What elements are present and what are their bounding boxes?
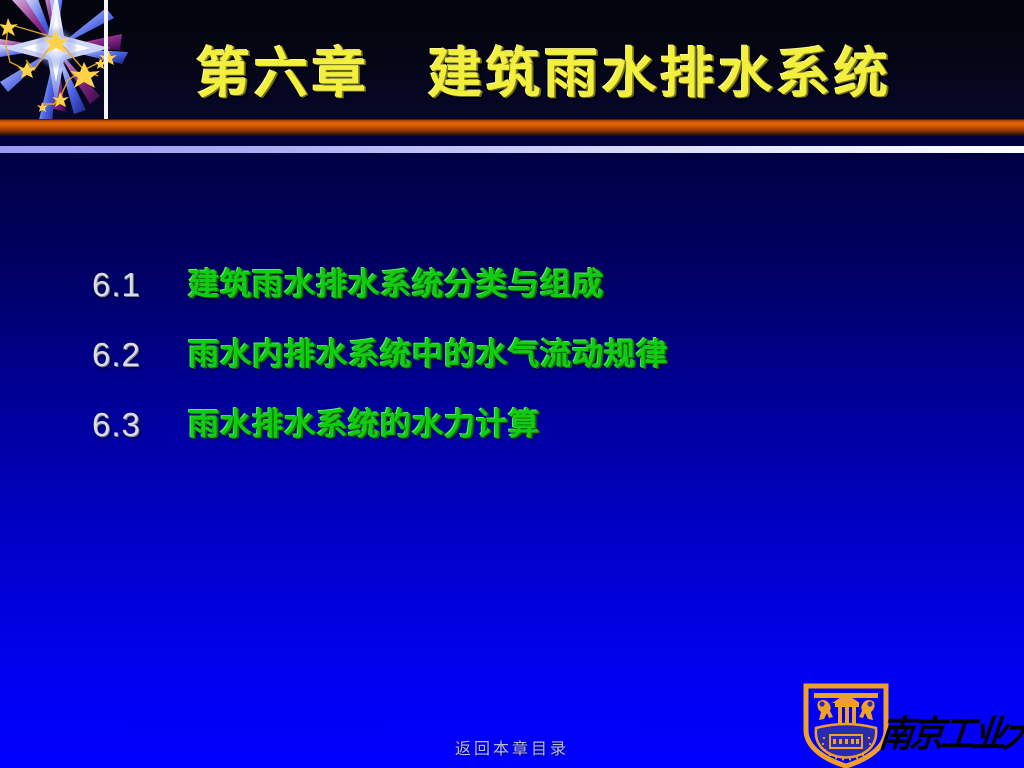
list-item-number: 6.2	[92, 336, 141, 374]
list-item-label: 雨水内排水系统中的水气流动规律	[188, 336, 668, 374]
university-logo: 南京工业大学	[800, 682, 1024, 768]
list-item[interactable]: 6.1 建筑雨水排水系统分类与组成	[0, 250, 1024, 320]
orange-divider-bar	[0, 119, 1024, 136]
list-item-number: 6.3	[92, 406, 141, 444]
list-item-label: 雨水排水系统的水力计算	[188, 406, 540, 444]
page-title: 第六章 建筑雨水排水系统	[196, 42, 892, 106]
list-item[interactable]: 6.2 雨水内排水系统中的水气流动规律	[0, 320, 1024, 390]
light-divider-bar	[0, 146, 1024, 153]
university-name-calligraphy: 南京工业大学	[882, 710, 1024, 762]
vertical-rule-divider	[104, 0, 108, 126]
contents-list: 6.1 建筑雨水排水系统分类与组成 6.2 雨水内排水系统中的水气流动规律 6.…	[0, 250, 1024, 460]
list-item-label: 建筑雨水排水系统分类与组成	[188, 266, 604, 304]
list-item[interactable]: 6.3 雨水排水系统的水力计算	[0, 390, 1024, 460]
slide-canvas: 第六章 建筑雨水排水系统 6.1 建筑雨水排水系统分类与组成 6.2 雨水内排水…	[0, 0, 1024, 768]
list-item-number: 6.1	[92, 266, 141, 304]
university-name-text: 南京工业大学	[877, 710, 1024, 760]
